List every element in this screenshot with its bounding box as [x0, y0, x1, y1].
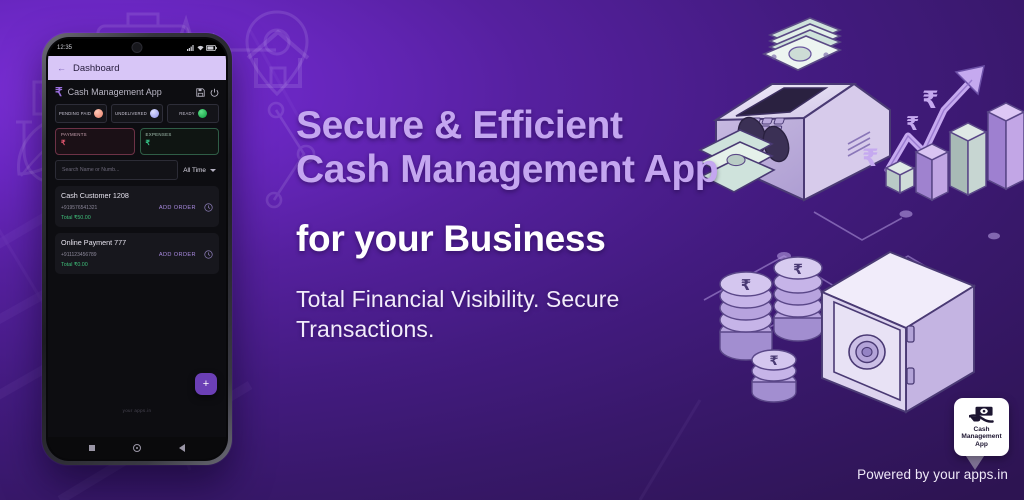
payments-value: ₹ [61, 139, 129, 147]
phone-screen: 12:35 ← Dashboard ₹ Cash Managemen [48, 39, 226, 459]
screen-watermark: your apps.in [48, 408, 226, 413]
clock-icon[interactable] [204, 250, 213, 259]
rupee-logo-icon: ₹ [55, 86, 63, 98]
expenses-value: ₹ [146, 139, 214, 147]
add-fab-button[interactable]: + [195, 373, 217, 395]
wifi-icon [197, 45, 204, 51]
status-chip-label: PENDING PAID [59, 111, 91, 116]
rupee-symbol-1: ₹ [862, 144, 879, 172]
transaction-meta: +911123456789 ADD ORDER [61, 250, 213, 259]
status-dot-undelivered [150, 109, 159, 118]
app-bar: ← Dashboard [48, 56, 226, 80]
status-chip[interactable]: PENDING PAID [55, 104, 107, 123]
badge-app-name: Cash Management App [961, 426, 1001, 448]
transaction-phone: +911123456789 [61, 252, 97, 258]
app-body: ₹ Cash Management App PENDING PAID UNDEL… [48, 80, 226, 437]
powered-by-text: Powered by your apps.in [857, 467, 1008, 482]
search-placeholder: Search Name or Numb... [62, 167, 119, 173]
table-row[interactable]: Online Payment 777 +911123456789 ADD ORD… [55, 233, 219, 274]
chevron-down-icon [210, 169, 216, 172]
battery-icon [206, 45, 217, 51]
headline-line-2: Cash Management App [296, 148, 726, 192]
time-filter-value: All Time [183, 167, 206, 174]
status-bar-time: 12:35 [57, 45, 72, 51]
phone-mockup: 12:35 ← Dashboard ₹ Cash Managemen [42, 33, 232, 465]
badge-app-name-line-1: Cash [961, 426, 1001, 433]
save-icon[interactable] [196, 88, 205, 97]
svg-text:₹: ₹ [769, 354, 778, 369]
finance-illustration: ₹ ₹ ₹ [694, 0, 1024, 420]
banner-canvas: ₹ ₹ ₹ [0, 0, 1024, 500]
payments-card[interactable]: PAYMENTS ₹ [55, 128, 135, 155]
app-title: Cash Management App [68, 87, 191, 97]
home-icon [242, 24, 314, 96]
transaction-name: Online Payment 777 [61, 238, 213, 247]
payments-label: PAYMENTS [61, 132, 129, 137]
ascending-bar-chart-graphic [886, 103, 1024, 200]
time-filter-dropdown[interactable]: All Time [183, 167, 219, 174]
table-row[interactable]: Cash Customer 1208 +919576541321 ADD ORD… [55, 186, 219, 227]
headline-block: Secure & Efficient Cash Management App f… [296, 104, 726, 345]
badge-app-name-line-2: Management [961, 433, 1001, 440]
tagline: Total Financial Visibility. Secure Trans… [296, 284, 726, 345]
transaction-total: Total ₹50.00 [61, 215, 213, 221]
front-camera-notch [132, 42, 143, 53]
back-arrow-icon[interactable]: ← [57, 64, 66, 73]
status-dot-pending [94, 109, 103, 118]
rupee-coin-stacks-graphic: ₹ ₹ ₹ [720, 257, 822, 402]
svg-text:₹: ₹ [741, 276, 751, 294]
headline-line-1: Secure & Efficient [296, 104, 726, 148]
clock-icon[interactable] [204, 203, 213, 212]
badge-app-name-line-3: App [961, 441, 1001, 448]
search-filter-row: Search Name or Numb... All Time [55, 160, 219, 180]
status-chip-label: UNDELIVERED [115, 111, 147, 116]
brand-row: ₹ Cash Management App [55, 86, 219, 98]
phone-status-bar: 12:35 [48, 39, 226, 56]
status-bar-indicators [187, 45, 217, 51]
triangle-back-icon[interactable] [179, 444, 185, 452]
add-order-button[interactable]: ADD ORDER [159, 205, 196, 211]
upward-trend-arrow-graphic [888, 66, 984, 170]
transaction-total: Total ₹0.00 [61, 262, 213, 268]
expenses-label: EXPENSES [146, 132, 214, 137]
status-chip-label: READY [179, 111, 194, 116]
rupee-symbol-2: ₹ [906, 113, 919, 135]
android-nav-bar [48, 437, 226, 459]
svg-text:₹: ₹ [793, 262, 803, 278]
signal-icon [187, 45, 194, 51]
rupee-symbol-3: ₹ [922, 86, 939, 114]
search-input[interactable]: Search Name or Numb... [55, 160, 178, 180]
transaction-phone: +919576541321 [61, 205, 97, 211]
transaction-meta: +919576541321 ADD ORDER [61, 203, 213, 212]
vault-safe-graphic [822, 252, 974, 412]
summary-card-row: PAYMENTS ₹ EXPENSES ₹ [55, 128, 219, 155]
transaction-name: Cash Customer 1208 [61, 191, 213, 200]
add-order-button[interactable]: ADD ORDER [159, 252, 196, 258]
expenses-card[interactable]: EXPENSES ₹ [140, 128, 220, 155]
status-dot-ready [198, 109, 207, 118]
power-icon[interactable] [210, 88, 219, 97]
status-chip[interactable]: UNDELIVERED [111, 104, 163, 123]
app-bar-title: Dashboard [73, 63, 119, 74]
status-chip-row: PENDING PAID UNDELIVERED READY [55, 104, 219, 123]
square-recents-icon[interactable] [89, 445, 95, 451]
status-chip[interactable]: READY [167, 104, 219, 123]
cash-in-hand-icon [969, 406, 995, 424]
app-icon-badge[interactable]: Cash Management App [954, 398, 1009, 456]
subheadline: for your Business [296, 219, 726, 260]
circle-home-icon[interactable] [133, 444, 141, 452]
tagline-line-2: Transactions. [296, 314, 726, 345]
tagline-line-1: Total Financial Visibility. Secure [296, 284, 726, 315]
cash-counting-machine-graphic [700, 18, 890, 200]
phone-bezel: 12:35 ← Dashboard ₹ Cash Managemen [46, 37, 228, 461]
